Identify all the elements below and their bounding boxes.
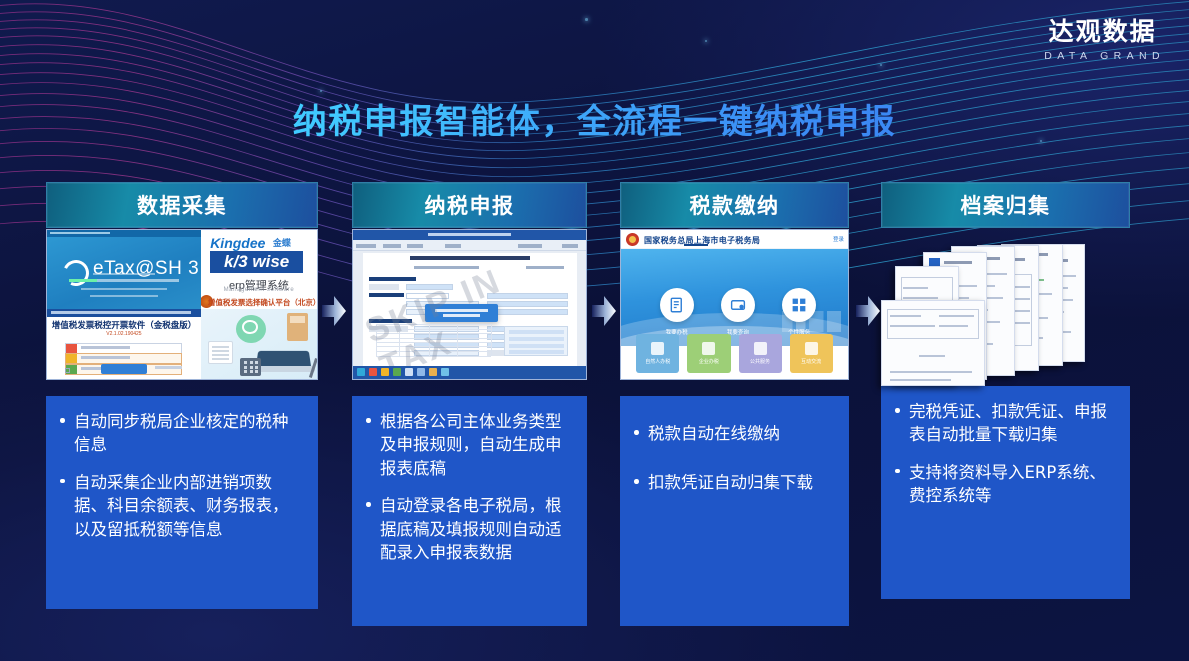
field-value xyxy=(81,346,129,349)
step-4-bullet-list: 完税凭证、扣款凭证、申报表自动批量下载归集 支持将资料导入ERP系统、费控系统等 xyxy=(891,400,1114,508)
portal-tile-label: 企业办税 xyxy=(699,358,719,365)
invoice-software-subtitle: V2.1.02.190425 xyxy=(47,331,201,337)
step-4-body: 完税凭证、扣款凭证、申报表自动批量下载归集 支持将资料导入ERP系统、费控系统等 xyxy=(881,386,1130,599)
step-2-body: 根据各公司主体业务类型及申报规则，自动生成申报表底稿 自动登录各电子税局，根据底… xyxy=(352,396,587,626)
kingdee-product: k/3 wise xyxy=(210,251,303,272)
brand-logo: 达观数据 DATA GRAND xyxy=(1040,18,1165,62)
etax-logo-icon xyxy=(59,256,92,289)
portal-circle-tile-3[interactable] xyxy=(782,288,816,322)
kingdee-brand: Kingdee xyxy=(210,235,265,251)
kingdee-thumbnail: Kingdee 金蝶 k/3 wise erp管理系统 Management s… xyxy=(201,230,317,309)
magnifier-icon xyxy=(236,315,266,343)
step-4-header: 档案归集 xyxy=(881,182,1130,228)
list-item: 完税凭证、扣款凭证、申报表自动批量下载归集 xyxy=(891,400,1114,447)
cabinet-icon xyxy=(287,313,308,341)
process-step-1: 数据采集 eTax@SH 3 Kingdee 金蝶 k/3 wise erp管理… xyxy=(46,182,318,609)
document-page xyxy=(881,300,985,386)
portal-tile-1[interactable]: 自然人办税 xyxy=(636,334,679,373)
portal-login-link[interactable]: 登录 xyxy=(833,235,844,243)
monitor-icon xyxy=(702,342,715,355)
invoice-titlebar xyxy=(47,309,201,317)
invoice-field-username[interactable] xyxy=(65,353,182,364)
etax-titlebar xyxy=(47,230,201,237)
arrow-step-2-to-3 xyxy=(591,294,617,328)
list-item: 自动同步税局企业核定的税种信息 xyxy=(56,410,302,457)
etax-progress-bar xyxy=(69,279,180,282)
invoice-platform-label: 增值税发票选择确认平台（北京） xyxy=(208,297,317,308)
brand-logo-en: DATA GRAND xyxy=(1044,50,1165,62)
user-icon xyxy=(66,344,77,353)
step-3-screenshot: 国家税务总局上海市电子税务局 登录 我要办税 xyxy=(620,229,849,380)
etax-splash-title: eTax@SH 3 xyxy=(93,258,199,280)
step-2-bullet-list: 根据各公司主体业务类型及申报规则，自动生成申报表底稿 自动登录各电子税局，根据底… xyxy=(362,410,571,565)
portal-tile-label: 互动交流 xyxy=(801,358,821,365)
step-1-header: 数据采集 xyxy=(46,182,318,228)
portal-tile-4[interactable]: 互动交流 xyxy=(790,334,833,373)
process-flow: 数据采集 eTax@SH 3 Kingdee 金蝶 k/3 wise erp管理… xyxy=(0,182,1189,622)
remember-password-checkbox[interactable] xyxy=(65,368,70,373)
portal-hero-banner: 我要办税 我要查询 xyxy=(621,249,848,346)
step-3-header: 税款缴纳 xyxy=(620,182,849,228)
invoice-software-thumbnail: 增值税发票税控开票软件（金税盘版） V2.1.02.190425 xyxy=(47,309,201,379)
wallet-icon xyxy=(729,296,746,313)
portal-tile-2[interactable]: 企业办税 xyxy=(687,334,730,373)
portal-header: 国家税务总局上海市电子税务局 登录 xyxy=(621,230,848,249)
step-1-bullet-list: 自动同步税局企业核定的税种信息 自动采集企业内部进销项数据、科目余额表、财务报表… xyxy=(56,410,302,541)
list-item: 根据各公司主体业务类型及申报规则，自动生成申报表底稿 xyxy=(362,410,571,480)
portal-tile-label: 公共服务 xyxy=(750,358,770,365)
kingdee-brand-cn: 金蝶 xyxy=(273,236,291,249)
kingdee-erp-sublabel: Management software xyxy=(201,287,317,293)
document-icon xyxy=(668,296,685,313)
step-2-header: 纳税申报 xyxy=(352,182,587,228)
grid-icon xyxy=(791,296,808,313)
portal-title-underline xyxy=(684,244,708,246)
etax-splash-thumbnail: eTax@SH 3 xyxy=(47,230,201,309)
list-item: 支持将资料导入ERP系统、费控系统等 xyxy=(891,461,1114,508)
process-step-2: 纳税申报 xyxy=(352,182,587,626)
step-4-screenshot xyxy=(881,234,1130,386)
list-item: 税款自动在线缴纳 xyxy=(630,422,833,445)
portal-circle-tile-1[interactable] xyxy=(660,288,694,322)
list-item: 自动登录各电子税局，根据底稿及填报规则自动适配录入申报表数据 xyxy=(362,494,571,564)
laptop-base xyxy=(252,366,315,372)
step-1-screenshot: eTax@SH 3 Kingdee 金蝶 k/3 wise erp管理系统 Ma… xyxy=(46,229,318,380)
step-3-bullet-list: 税款自动在线缴纳 扣款凭证自动归集下载 xyxy=(630,422,833,495)
invoice-field-operator[interactable] xyxy=(65,343,182,354)
portal-tile-label: 自然人办税 xyxy=(645,358,670,365)
chat-icon xyxy=(805,342,818,355)
portal-circle-tile-2[interactable] xyxy=(721,288,755,322)
list-item: 扣款凭证自动归集下载 xyxy=(630,471,833,494)
step-3-body: 税款自动在线缴纳 扣款凭证自动归集下载 xyxy=(620,396,849,626)
field-value xyxy=(81,356,129,359)
process-step-3: 税款缴纳 国家税务总局上海市电子税务局 登录 xyxy=(620,182,849,626)
arrow-step-1-to-2 xyxy=(321,294,347,328)
finance-illustration xyxy=(201,309,317,379)
invoice-login-button[interactable] xyxy=(101,364,147,374)
invoice-software-title: 增值税发票税控开票软件（金税盘版） xyxy=(47,319,201,331)
portal-tile-3[interactable]: 公共服务 xyxy=(739,334,782,373)
step-1-body: 自动同步税局企业核定的税种信息 自动采集企业内部进销项数据、科目余额表、财务报表… xyxy=(46,396,318,609)
form-titlebar xyxy=(353,230,586,240)
step-2-screenshot: SKIP IN TAX xyxy=(352,229,587,380)
tax-emblem-icon xyxy=(626,233,639,246)
search-doc-icon xyxy=(754,342,767,355)
slide-title: 纳税申报智能体，全流程一键纳税申报 xyxy=(0,94,1189,143)
list-item: 自动采集企业内部进销项数据、科目余额表、财务报表，以及留抵税额等信息 xyxy=(56,471,302,541)
calculator-icon xyxy=(240,358,261,376)
brand-logo-cn: 达观数据 xyxy=(1040,18,1165,46)
arrow-step-3-to-4 xyxy=(855,294,881,328)
portal-service-tiles: 自然人办税 企业办税 公共服务 互动交流 xyxy=(621,334,848,373)
laptop-icon xyxy=(255,350,311,367)
person-icon xyxy=(651,342,664,355)
process-step-4: 档案归集 xyxy=(881,182,1130,599)
form-sheet: SKIP IN TAX xyxy=(363,253,577,366)
etax-portal-window: 国家税务总局上海市电子税务局 登录 我要办税 xyxy=(621,230,848,379)
declaration-form-window: SKIP IN TAX xyxy=(353,230,586,379)
key-icon xyxy=(66,354,77,363)
form-taskbar xyxy=(353,366,586,379)
clipboard-icon xyxy=(208,341,234,363)
